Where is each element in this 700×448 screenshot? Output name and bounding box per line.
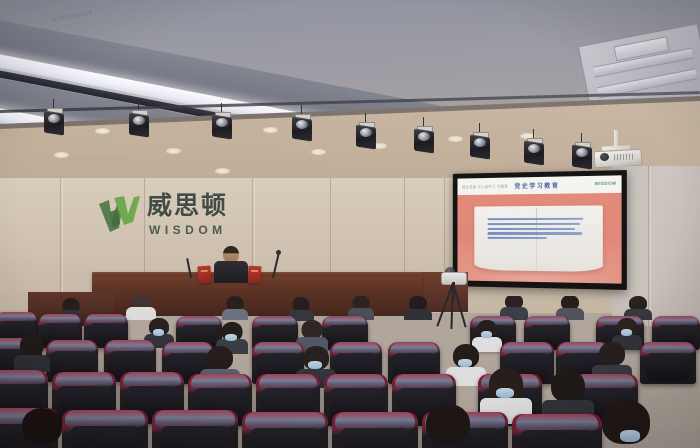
slide-text-lines [488,218,588,242]
stage-light-icon [524,138,544,164]
audience-seating [0,296,700,448]
audience-member [222,296,248,320]
face-mask [225,334,237,341]
stage-light-icon [414,126,434,152]
red-booklet [248,266,262,284]
auditorium-seat [512,414,602,448]
presenter-torso [214,261,248,283]
red-booklet [197,266,211,284]
face-mask [458,359,472,367]
face-mask [496,388,514,398]
audience-member [14,334,50,372]
presentation-slide: 国企党建 中心组学习 专题课 党史学习教育 WISDOM [457,175,621,283]
stage-light-icon [44,108,64,134]
logo-english-name: WISDOM [149,223,227,237]
company-logo: 威思顿 WISDOM [97,192,237,244]
audience-member [594,400,658,448]
slide-body [457,193,621,284]
stage-light-icon [572,142,592,168]
conference-hall-photo: AIRCONDIT [0,0,700,448]
auditorium-seat [242,412,328,448]
logo-chinese-name: 威思顿 [147,192,228,220]
face-mask [481,331,492,338]
stage-light-icon [212,112,232,138]
face-mask [621,329,632,336]
stage-light-icon [470,132,490,158]
audience-member [14,408,70,448]
projection-screen: 国企党建 中心组学习 专题课 党史学习教育 WISDOM [453,170,627,290]
audience-member [404,296,432,320]
downlight-icon [215,168,230,174]
auditorium-seat [62,410,148,448]
stage-light-icon [129,110,149,136]
ceiling-label: AIRCONDIT [52,10,94,23]
auditorium-seat [332,412,418,448]
face-mask [153,329,164,336]
microphone-head-icon [276,250,281,255]
slide-logo: WISDOM [595,181,617,187]
face-mask [620,430,640,442]
downlight-icon [95,128,110,134]
stage-light-icon [356,122,376,148]
audience-member [126,296,156,320]
auditorium-seat [152,410,238,448]
downlight-icon [54,152,69,158]
audience-member [418,404,478,448]
auditorium-seat [640,342,696,384]
vent-center [613,36,670,61]
downlight-icon [263,127,278,133]
face-mask [308,361,322,369]
presenter [214,246,248,282]
downlight-icon [166,148,181,154]
wisdom-w-mark-icon [97,194,141,234]
stage-light-icon [292,114,312,140]
open-book-graphic-icon [475,206,603,273]
downlight-icon [448,136,463,142]
slide-header-breadcrumb: 国企党建 中心组学习 专题课 [462,184,508,190]
downlight-icon [311,149,326,155]
slide-title: 党史学习教育 [514,181,559,191]
